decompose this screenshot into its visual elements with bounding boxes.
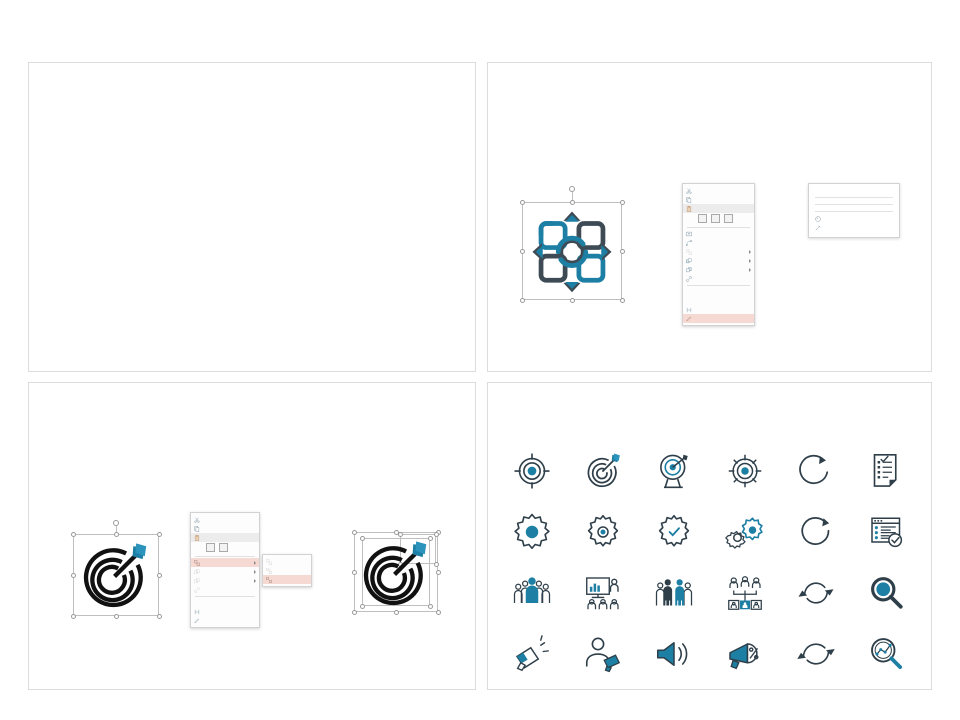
icon-cell[interactable]	[710, 440, 781, 501]
team-people-icon	[512, 573, 552, 613]
icon-cell[interactable]	[639, 440, 710, 501]
arrow-handle-ne[interactable]	[434, 532, 439, 537]
resize-handle-se[interactable]	[157, 614, 162, 619]
menu-item-hyperlink[interactable]	[191, 585, 259, 594]
menu-item-send-to-back[interactable]	[191, 576, 259, 585]
resize-handle-se[interactable]	[436, 610, 441, 615]
hyperlink-icon	[686, 276, 692, 282]
menu-item-bring-to-front[interactable]	[683, 256, 754, 265]
document-approved-icon	[867, 512, 907, 552]
menu-item-paste-options[interactable]	[683, 204, 754, 213]
picker-divider	[815, 204, 893, 205]
more-colors-option[interactable]	[815, 214, 893, 223]
paste-keep-formatting-icon[interactable]	[206, 543, 215, 552]
four-squares-cycle-icon	[529, 208, 615, 294]
group-icon	[194, 560, 200, 566]
bring-front-icon	[686, 258, 692, 264]
menu-item-save-as-picture[interactable]	[683, 287, 754, 296]
speaker-loud-icon	[654, 634, 694, 674]
shape-context-menu[interactable]	[682, 183, 755, 326]
resize-handle-nw[interactable]	[520, 200, 525, 205]
magnifier-icon	[867, 573, 907, 613]
icon-cell[interactable]	[710, 501, 781, 562]
panel-edit-any-shape	[28, 62, 476, 372]
group-three-people-icon	[654, 573, 694, 613]
menu-item-edit-points[interactable]	[683, 238, 754, 247]
paste-icon	[194, 535, 200, 541]
presentation-audience-icon	[583, 573, 623, 613]
selected-shape-figure[interactable]	[518, 186, 626, 304]
format-shape-icon	[194, 618, 200, 624]
icon-cell[interactable]	[497, 440, 568, 501]
icon-cell[interactable]	[497, 624, 568, 685]
menu-item-set-default-shape[interactable]	[683, 296, 754, 305]
icon-cell[interactable]	[497, 563, 568, 624]
picker-divider	[815, 197, 893, 198]
gear-check-icon	[654, 512, 694, 552]
resize-handle-e[interactable]	[620, 249, 625, 254]
paste-keep-formatting-icon[interactable]	[698, 214, 707, 223]
menu-item-hyperlink[interactable]	[683, 274, 754, 283]
reload-circular-arrow-icon	[796, 512, 836, 552]
resize-handle-s[interactable]	[114, 614, 119, 619]
send-back-icon	[194, 578, 200, 584]
resize-handle-sw[interactable]	[520, 298, 525, 303]
paste-text-only-icon[interactable]	[724, 214, 733, 223]
person-announce-icon	[583, 634, 623, 674]
send-back-icon	[686, 267, 692, 273]
size-position-icon	[686, 307, 692, 313]
group-icon	[686, 249, 692, 255]
icon-cell[interactable]	[568, 501, 639, 562]
size-position-icon	[194, 609, 200, 615]
arrow-handle-nw[interactable]	[398, 532, 403, 537]
menu-item-paste-options[interactable]	[191, 533, 259, 542]
icon-context-menu[interactable]	[190, 512, 260, 628]
icon-cell[interactable]	[639, 563, 710, 624]
resize-handle-s[interactable]	[570, 298, 575, 303]
team-hierarchy-icon	[725, 573, 765, 613]
gear-outline-icon	[583, 512, 623, 552]
resize-handle-se[interactable]	[620, 298, 625, 303]
icon-cell[interactable]	[710, 563, 781, 624]
megaphone-percent-icon	[725, 634, 765, 674]
sync-arrows-icon	[796, 573, 836, 613]
refresh-clockwise-arrow-icon	[796, 451, 836, 491]
menu-divider	[195, 556, 255, 557]
copy-icon	[686, 197, 692, 203]
menu-item-size-and-position[interactable]	[191, 607, 259, 616]
resize-handle-sw[interactable]	[352, 610, 357, 615]
regroup-icon	[266, 568, 272, 574]
dartboard-arrow-icon	[583, 451, 623, 491]
resize-handle-n[interactable]	[570, 200, 575, 205]
menu-item-send-to-back[interactable]	[683, 265, 754, 274]
icon-cell[interactable]	[710, 624, 781, 685]
menu-item-copy[interactable]	[683, 195, 754, 204]
color-picker-panel[interactable]	[808, 183, 900, 238]
group-icon	[266, 559, 272, 565]
menu-item-cut[interactable]	[191, 515, 259, 524]
crosshair-target-icon	[725, 451, 765, 491]
icon-cell[interactable]	[780, 624, 851, 685]
dartboard-grouped-figure[interactable]	[70, 520, 162, 618]
menu-divider	[687, 227, 750, 228]
submenu-item-group[interactable]	[263, 557, 311, 566]
menu-item-format-shape[interactable]	[683, 314, 754, 323]
submenu-item-ungroup[interactable]	[263, 575, 311, 584]
menu-item-group[interactable]	[683, 247, 754, 256]
resize-handle-e[interactable]	[436, 570, 441, 575]
icon-cell[interactable]	[568, 440, 639, 501]
menu-item-save-as-picture[interactable]	[191, 598, 259, 607]
arrow-handle-se[interactable]	[434, 562, 439, 567]
paste-picture-icon[interactable]	[219, 543, 228, 552]
resize-handle-nw[interactable]	[352, 530, 357, 535]
paste-option-buttons[interactable]	[191, 542, 259, 554]
edit-points-icon	[686, 240, 692, 246]
resize-handle-n[interactable]	[114, 532, 119, 537]
icon-cell[interactable]	[497, 501, 568, 562]
menu-item-edit-text[interactable]	[683, 229, 754, 238]
bring-front-icon	[194, 569, 200, 575]
icon-library-grid	[497, 440, 922, 685]
slide-canvas	[0, 0, 960, 720]
icon-cell[interactable]	[851, 501, 922, 562]
menu-item-group[interactable]	[191, 558, 259, 567]
group-submenu[interactable]	[262, 554, 312, 587]
paste-option-buttons[interactable]	[683, 213, 754, 225]
submenu-item-regroup[interactable]	[263, 566, 311, 575]
edit-text-icon	[686, 231, 692, 237]
menu-item-format-shape[interactable]	[191, 616, 259, 625]
cut-icon	[194, 517, 200, 523]
icon-cell[interactable]	[568, 624, 639, 685]
icon-cell[interactable]	[851, 624, 922, 685]
menu-item-size-and-position[interactable]	[683, 305, 754, 314]
menu-divider	[687, 285, 750, 286]
target-crosshair-filled-icon	[512, 451, 552, 491]
dartboard-ungrouped-figure[interactable]	[348, 518, 444, 618]
icon-cell[interactable]	[780, 563, 851, 624]
paste-picture-icon[interactable]	[711, 214, 720, 223]
icon-cell[interactable]	[568, 563, 639, 624]
resize-handle-w[interactable]	[352, 570, 357, 575]
palette-icon	[815, 216, 821, 222]
dartboard-arrow-icon	[79, 539, 153, 611]
megaphone-icon	[512, 634, 552, 674]
hyperlink-icon	[194, 587, 200, 593]
icon-cell[interactable]	[851, 440, 922, 501]
picker-divider	[815, 211, 893, 212]
format-shape-icon	[686, 316, 692, 322]
double-gear-icon	[725, 512, 765, 552]
magnifier-analytics-icon	[867, 634, 907, 674]
eyedropper-option[interactable]	[815, 223, 893, 232]
resize-handle-e[interactable]	[157, 573, 162, 578]
checklist-document-icon	[867, 451, 907, 491]
eyedropper-icon	[815, 225, 821, 231]
icon-cell[interactable]	[780, 440, 851, 501]
resize-handle-w[interactable]	[71, 573, 76, 578]
dartboard-arrow-icon	[359, 537, 433, 609]
menu-item-copy[interactable]	[191, 524, 259, 533]
resize-handle-ne[interactable]	[157, 532, 162, 537]
copy-icon	[194, 526, 200, 532]
resize-handle-sw[interactable]	[71, 614, 76, 619]
resize-handle-w[interactable]	[520, 249, 525, 254]
menu-divider	[195, 596, 255, 597]
icon-cell[interactable]	[639, 624, 710, 685]
resize-handle-ne[interactable]	[620, 200, 625, 205]
resize-handle-s[interactable]	[394, 610, 399, 615]
icon-cell[interactable]	[639, 501, 710, 562]
ungroup-icon	[266, 577, 272, 583]
menu-item-cut[interactable]	[683, 186, 754, 195]
icon-cell[interactable]	[780, 501, 851, 562]
refresh-cycle-icon	[796, 634, 836, 674]
resize-handle-nw[interactable]	[71, 532, 76, 537]
cut-icon	[686, 188, 692, 194]
menu-item-bring-to-front[interactable]	[191, 567, 259, 576]
target-on-stand-icon	[654, 451, 694, 491]
gear-filled-icon	[512, 512, 552, 552]
paste-icon	[686, 206, 692, 212]
icon-cell[interactable]	[851, 563, 922, 624]
